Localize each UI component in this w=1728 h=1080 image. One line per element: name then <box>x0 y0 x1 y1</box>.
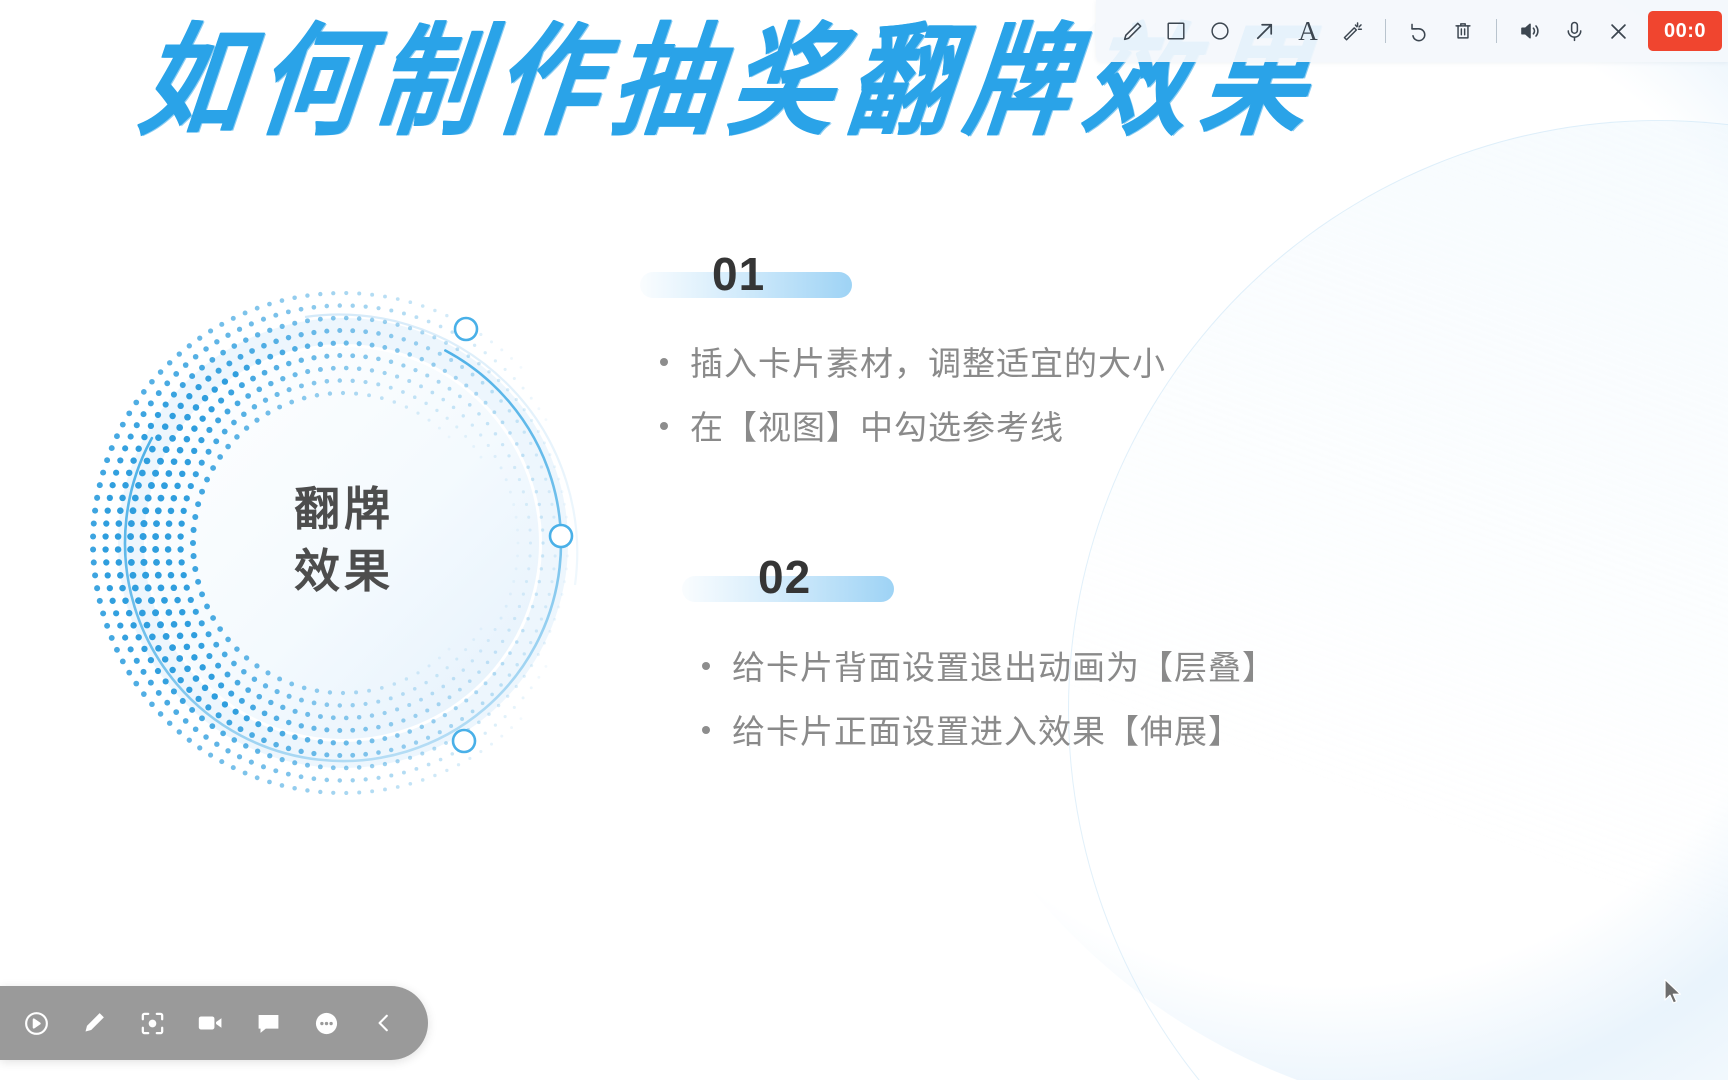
speaker-icon[interactable] <box>1508 0 1552 62</box>
comment-button[interactable] <box>242 997 294 1049</box>
collapse-button[interactable] <box>358 997 410 1049</box>
rectangle-icon[interactable] <box>1154 0 1198 62</box>
section-02-bullets: 给卡片背面设置退出动画为【层叠】 给卡片正面设置进入效果【伸展】 <box>640 636 1600 764</box>
microphone-icon[interactable] <box>1552 0 1596 62</box>
magic-wand-icon[interactable] <box>1330 0 1374 62</box>
bullet-text: 给卡片正面设置进入效果【伸展】 <box>732 708 1242 756</box>
pen-icon[interactable] <box>1110 0 1154 62</box>
section-02-header: 02 <box>640 544 1600 610</box>
play-button[interactable] <box>10 997 62 1049</box>
bullet-dot-icon <box>660 422 668 430</box>
section-01-header: 01 <box>640 240 1600 306</box>
mouse-cursor <box>1663 978 1685 1008</box>
section-01: 01 插入卡片素材，调整适宜的大小 在【视图】中勾选参考线 <box>640 240 1600 460</box>
recording-timer: 00:0 <box>1648 11 1722 51</box>
bullet-text: 在【视图】中勾选参考线 <box>690 404 1064 452</box>
toolbar-divider <box>1385 19 1386 43</box>
bullet-text: 插入卡片素材，调整适宜的大小 <box>690 340 1166 388</box>
section-02-number: 02 <box>758 553 811 601</box>
close-icon[interactable] <box>1596 0 1640 62</box>
circle-graphic: 翻牌 效果 <box>55 255 625 825</box>
circle-label-line1: 翻牌 <box>294 481 394 537</box>
toolbar-divider <box>1496 19 1497 43</box>
pen-button[interactable] <box>68 997 120 1049</box>
bullet-dot-icon <box>702 662 710 670</box>
more-button[interactable] <box>300 997 352 1049</box>
circle-label: 翻牌 效果 <box>55 255 625 825</box>
record-button[interactable] <box>184 997 236 1049</box>
list-item: 给卡片背面设置退出动画为【层叠】 <box>702 636 1600 700</box>
list-item: 在【视图】中勾选参考线 <box>660 396 1600 460</box>
undo-icon[interactable] <box>1397 0 1441 62</box>
playback-control-bar <box>0 986 428 1060</box>
text-icon[interactable]: A <box>1286 0 1330 62</box>
section-01-bullets: 插入卡片素材，调整适宜的大小 在【视图】中勾选参考线 <box>640 332 1600 460</box>
list-item: 给卡片正面设置进入效果【伸展】 <box>702 700 1600 764</box>
trash-icon[interactable] <box>1441 0 1485 62</box>
arrow-icon[interactable] <box>1242 0 1286 62</box>
section-02: 02 给卡片背面设置退出动画为【层叠】 给卡片正面设置进入效果【伸展】 <box>640 544 1600 764</box>
list-item: 插入卡片素材，调整适宜的大小 <box>660 332 1600 396</box>
bullet-dot-icon <box>660 358 668 366</box>
presentation-slide-viewer: 如何制作抽奖翻牌效果 <box>0 0 1728 1080</box>
annotation-toolbar: A <box>1096 0 1728 62</box>
focus-button[interactable] <box>126 997 178 1049</box>
bullet-dot-icon <box>702 726 710 734</box>
ellipse-icon[interactable] <box>1198 0 1242 62</box>
section-01-number: 01 <box>712 250 765 298</box>
slide-content: 01 插入卡片素材，调整适宜的大小 在【视图】中勾选参考线 02 <box>640 240 1600 763</box>
bullet-text: 给卡片背面设置退出动画为【层叠】 <box>732 644 1276 692</box>
circle-label-line2: 效果 <box>294 543 394 599</box>
